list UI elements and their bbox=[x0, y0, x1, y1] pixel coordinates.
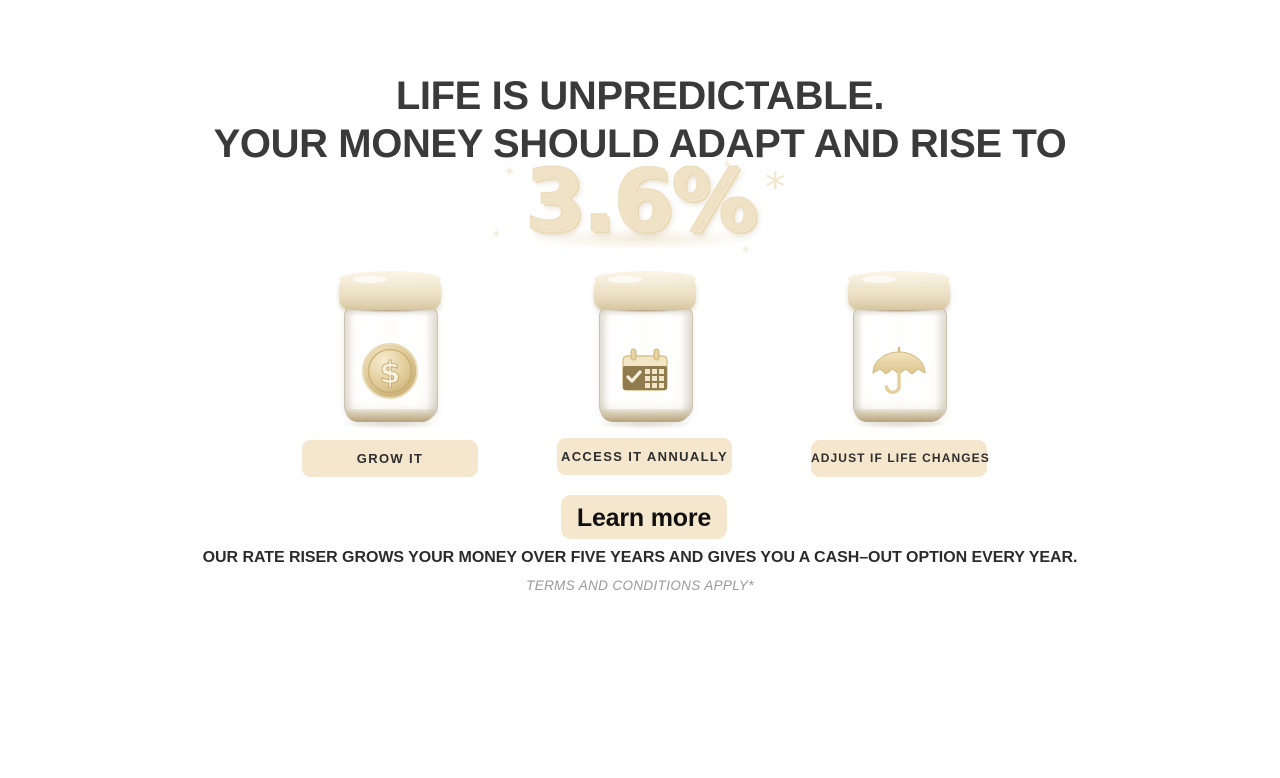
jar-lid bbox=[594, 278, 696, 310]
feature-item-adjust-if-life-changes bbox=[794, 272, 1004, 424]
calendar-check-icon bbox=[616, 342, 674, 400]
jar-illustration: $ bbox=[338, 272, 442, 424]
feature-labels-row: GROW IT ACCESS IT ANNUALLY ADJUST IF LIF… bbox=[0, 438, 1280, 480]
feature-item-grow-it: $ bbox=[285, 272, 495, 424]
footer-terms: TERMS AND CONDITIONS APPLY* bbox=[0, 578, 1280, 593]
svg-text:$: $ bbox=[380, 356, 401, 391]
learn-more-button[interactable]: Learn more bbox=[561, 495, 727, 539]
jar-lid bbox=[339, 278, 441, 310]
feature-label-grow-it[interactable]: GROW IT bbox=[302, 440, 478, 477]
headline-line-1: LIFE IS UNPREDICTABLE. bbox=[0, 76, 1280, 116]
jar-base bbox=[600, 409, 690, 422]
sparkle-icon: ✦ bbox=[491, 228, 502, 241]
feature-item-access-it-annually bbox=[540, 272, 750, 424]
jar-illustration bbox=[593, 272, 697, 424]
rate-value: 3.6% bbox=[525, 158, 756, 244]
sparkle-icon: ✦ bbox=[503, 164, 516, 180]
jar-base bbox=[854, 409, 944, 422]
feature-jars-row: $ bbox=[0, 272, 1280, 432]
footer-headline: OUR RATE RISER GROWS YOUR MONEY OVER FIV… bbox=[0, 549, 1280, 567]
feature-label-adjust-if-life-changes[interactable]: ADJUST IF LIFE CHANGES bbox=[811, 440, 987, 477]
umbrella-icon bbox=[868, 342, 930, 400]
rate-hero: ✦ ✦ ✦ ✦ 3.6% * bbox=[0, 158, 1280, 270]
asterisk-icon: * bbox=[765, 168, 785, 208]
feature-label-access-it-annually[interactable]: ACCESS IT ANNUALLY bbox=[557, 438, 732, 475]
jar-illustration bbox=[847, 272, 951, 424]
jar-base bbox=[345, 409, 435, 422]
jar-lid bbox=[848, 278, 950, 310]
dollar-coin-icon: $ bbox=[361, 342, 419, 400]
promo-page: LIFE IS UNPREDICTABLE. YOUR MONEY SHOULD… bbox=[0, 0, 1280, 778]
rate-graphic: ✦ ✦ ✦ ✦ 3.6% * bbox=[525, 158, 756, 244]
